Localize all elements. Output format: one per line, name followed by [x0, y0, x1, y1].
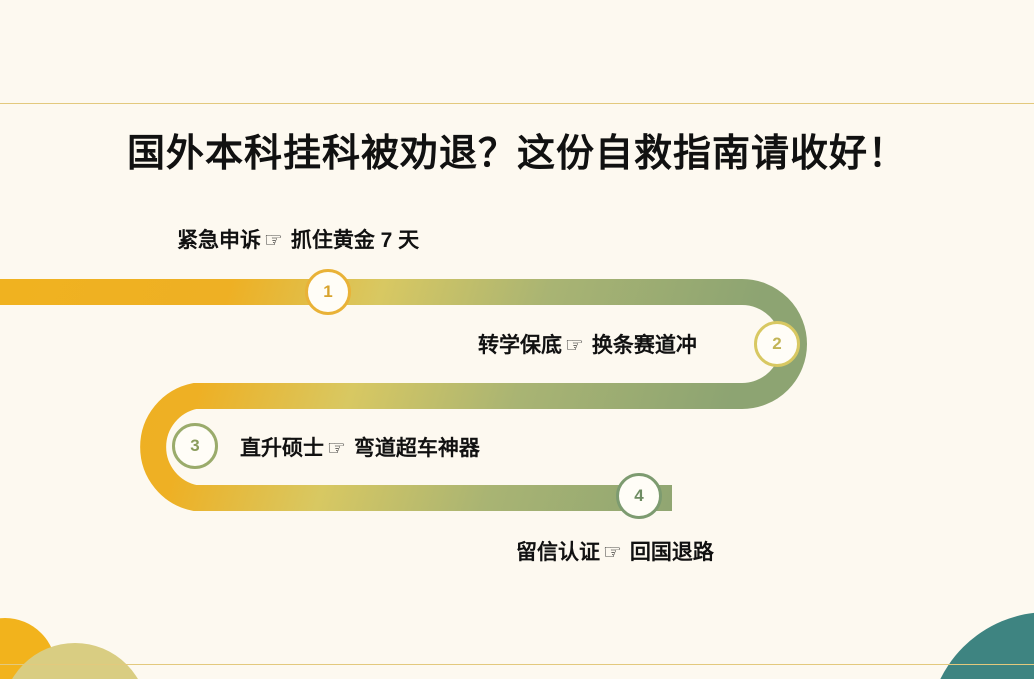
- step-marker-3[interactable]: 3: [172, 423, 218, 469]
- step-tail-text-3: 弯道超车神器: [354, 432, 480, 462]
- step-lead-text-4: 留信认证: [516, 536, 600, 566]
- step-lead-text-2: 转学保底: [478, 329, 562, 359]
- step-marker-2[interactable]: 2: [754, 321, 800, 367]
- step-number-2: 2: [772, 334, 781, 354]
- pointing-hand-icon: ☞: [327, 438, 346, 459]
- step-tail-text-1: 抓住黄金 7 天: [291, 224, 419, 254]
- pointing-hand-icon: ☞: [603, 542, 622, 563]
- step-marker-4[interactable]: 4: [616, 473, 662, 519]
- step-lead-text-3: 直升硕士: [240, 432, 324, 462]
- ribbon-path: [0, 292, 794, 498]
- step-label-4: 留信认证 ☞ 回国退路: [516, 536, 714, 566]
- step-lead-text-1: 紧急申诉: [177, 224, 261, 254]
- step-tail-text-2: 换条赛道冲: [592, 329, 697, 359]
- step-number-4: 4: [634, 486, 643, 506]
- step-label-1: 紧急申诉 ☞ 抓住黄金 7 天: [177, 224, 419, 254]
- pointing-hand-icon: ☞: [264, 230, 283, 251]
- step-number-1: 1: [323, 282, 332, 302]
- step-label-3: 直升硕士 ☞ 弯道超车神器: [240, 432, 480, 462]
- step-marker-1[interactable]: 1: [305, 269, 351, 315]
- infographic-poster: 国外本科挂科被劝退？这份自救指南请收好！ 1 2 3 4 紧急申诉 ☞ 抓住黄金…: [0, 0, 1034, 679]
- step-tail-text-4: 回国退路: [630, 536, 714, 566]
- step-number-3: 3: [190, 436, 199, 456]
- pointing-hand-icon: ☞: [565, 335, 584, 356]
- step-label-2: 转学保底 ☞ 换条赛道冲: [478, 329, 697, 359]
